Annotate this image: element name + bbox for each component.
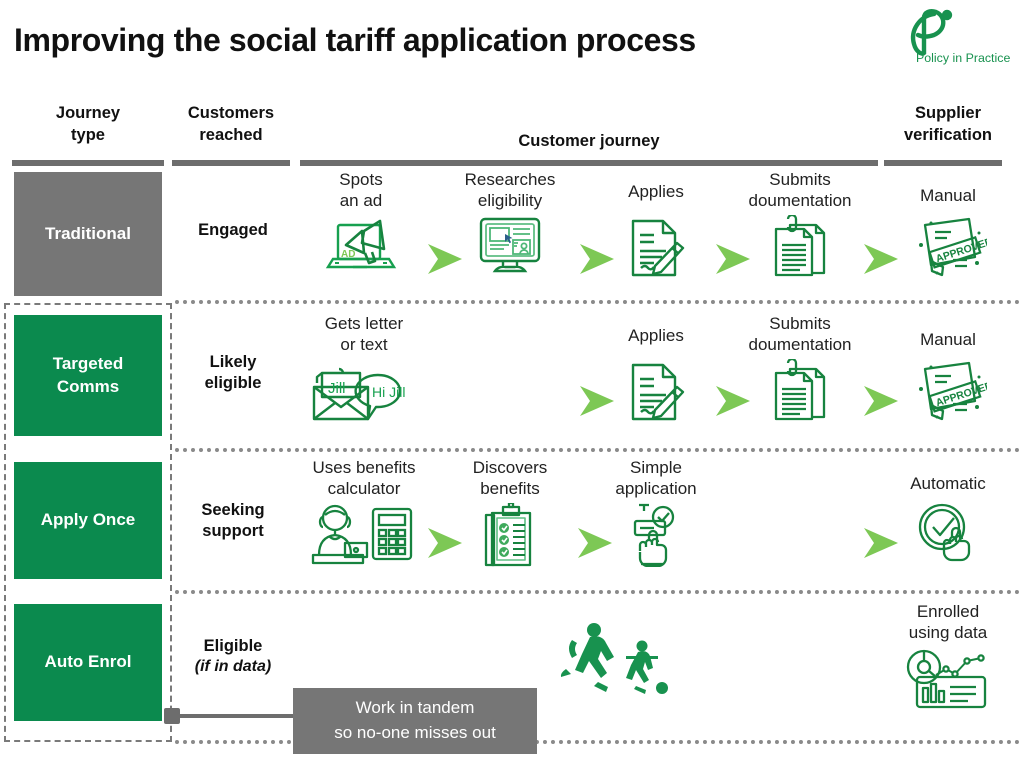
advisor-calculator-icon	[296, 503, 432, 567]
header-rule-supplier-verification	[884, 160, 1002, 166]
tandem-callout-line1: Work in tandem	[356, 696, 475, 721]
verification-enrolled-using-data[interactable]: Enrolled using data	[884, 602, 1012, 709]
verification-automatic-row3-label: Automatic	[884, 474, 1012, 495]
journey-type-auto-enrol[interactable]: Auto Enrol	[14, 604, 162, 721]
verification-manual-row1[interactable]: Manual APPROVED	[884, 186, 1012, 277]
step-submits-documentation-row1[interactable]: Submits doumentation	[726, 170, 874, 277]
header-rule-customer-journey	[300, 160, 878, 166]
step-spots-an-ad-line1: Spots	[305, 170, 417, 191]
step-researches-eligibility[interactable]: Researches eligibility	[448, 170, 572, 277]
laptop-megaphone-ad-icon: AD	[305, 215, 417, 277]
verification-automatic-row3[interactable]: Automatic	[884, 474, 1012, 563]
customers-reached-seeking-support-line1: Seeking	[172, 500, 294, 521]
header-supplier-verification-line1: Supplier	[884, 103, 1012, 125]
step-people-playing-football	[540, 620, 690, 698]
step-gets-letter-or-text-line1: Gets letter	[300, 314, 428, 335]
row-separator-3	[175, 590, 1020, 594]
customers-reached-engaged-label: Engaged	[198, 221, 268, 239]
step-applies-row1[interactable]: Applies	[606, 182, 706, 279]
customers-reached-seeking-support-line2: support	[172, 521, 294, 542]
policy-in-practice-logo: Policy in Practice	[900, 6, 1018, 68]
tap-approve-icon	[596, 503, 716, 567]
step-spots-an-ad[interactable]: Spots an ad AD	[305, 170, 417, 277]
header-supplier-verification-line2: verification	[884, 125, 1012, 147]
header-rule-journey-type	[12, 160, 164, 166]
step-simple-application-line1: Simple	[596, 458, 716, 479]
journey-type-apply-once-label: Apply Once	[41, 509, 135, 531]
approved-stamp-icon: APPROVED	[884, 215, 1012, 277]
customers-reached-likely-eligible: Likely eligible	[172, 352, 294, 395]
step-simple-application[interactable]: Simple application	[596, 458, 716, 567]
approved-stamp-icon: APPROVED	[884, 359, 1012, 421]
header-rule-customers-reached	[172, 160, 290, 166]
journey-type-targeted-comms-line2: Comms	[53, 376, 124, 398]
journey-type-targeted-comms-line1: Targeted	[53, 353, 124, 375]
desktop-monitor-research-icon	[448, 215, 572, 277]
svg-text:AD: AD	[341, 249, 355, 260]
people-playing-football-icon	[540, 620, 690, 698]
header-customers-reached: Customers reached	[170, 103, 292, 147]
journey-type-traditional[interactable]: Traditional	[14, 172, 162, 296]
tandem-connector-knob	[164, 708, 180, 724]
step-simple-application-line2: application	[596, 479, 716, 500]
tandem-callout: Work in tandem so no-one misses out	[293, 688, 537, 754]
step-spots-an-ad-line2: an ad	[305, 191, 417, 212]
row-separator-1	[175, 300, 1020, 304]
journey-type-apply-once[interactable]: Apply Once	[14, 462, 162, 579]
step-researches-eligibility-line1: Researches	[448, 170, 572, 191]
customers-reached-likely-eligible-line2: eligible	[172, 373, 294, 394]
step-uses-benefits-calculator-line1: Uses benefits	[296, 458, 432, 479]
sms-bubble-label: Hi Jill	[372, 384, 405, 400]
header-customers-reached-line1: Customers	[170, 103, 292, 125]
customers-reached-engaged: Engaged	[172, 220, 294, 241]
data-dashboard-icon	[884, 647, 1012, 709]
step-gets-letter-or-text[interactable]: Gets letter or text Jill Hi Jill	[300, 314, 428, 425]
step-gets-letter-or-text-line2: or text	[300, 335, 428, 356]
step-applies-row2-line1: Applies	[606, 326, 706, 347]
step-uses-benefits-calculator[interactable]: Uses benefits calculator	[296, 458, 432, 567]
step-discovers-benefits-line1: Discovers	[452, 458, 568, 479]
header-journey-type-line2: type	[12, 125, 164, 147]
customers-reached-eligible: Eligible (if in data)	[172, 636, 294, 678]
header-customers-reached-line2: reached	[170, 125, 292, 147]
customers-reached-likely-eligible-line1: Likely	[172, 352, 294, 373]
header-journey-type-line1: Journey	[12, 103, 164, 125]
step-submits-documentation-row2-line2: doumentation	[726, 335, 874, 356]
step-discovers-benefits[interactable]: Discovers benefits	[452, 458, 568, 567]
clipboard-documents-icon	[726, 359, 874, 421]
document-pen-icon	[606, 217, 706, 279]
step-applies-row1-line1: Applies	[606, 182, 706, 203]
letter-name-label: Jill	[328, 380, 346, 397]
logo-text: Policy in Practice	[916, 51, 1010, 65]
verification-manual-row2-label: Manual	[884, 330, 1012, 351]
step-uses-benefits-calculator-line2: calculator	[296, 479, 432, 500]
customers-reached-eligible-line2: (if in data)	[172, 657, 294, 678]
header-journey-type: Journey type	[12, 103, 164, 147]
step-researches-eligibility-line2: eligibility	[448, 191, 572, 212]
journey-type-auto-enrol-label: Auto Enrol	[45, 651, 132, 673]
step-submits-documentation-row1-line1: Submits	[726, 170, 874, 191]
customers-reached-seeking-support: Seeking support	[172, 500, 294, 543]
step-submits-documentation-row1-line2: doumentation	[726, 191, 874, 212]
step-applies-row2[interactable]: Applies	[606, 326, 706, 423]
step-submits-documentation-row2-line1: Submits	[726, 314, 874, 335]
tandem-callout-line2: so no-one misses out	[334, 721, 496, 746]
header-supplier-verification: Supplier verification	[884, 103, 1012, 147]
verification-enrolled-using-data-line2: using data	[884, 623, 1012, 644]
journey-type-targeted-comms[interactable]: Targeted Comms	[14, 315, 162, 436]
step-submits-documentation-row2[interactable]: Submits doumentation	[726, 314, 874, 421]
journey-type-traditional-label: Traditional	[45, 223, 131, 245]
verification-enrolled-using-data-line1: Enrolled	[884, 602, 1012, 623]
envelope-sms-icon: Jill Hi Jill	[300, 361, 428, 425]
page-title: Improving the social tariff application …	[14, 22, 696, 59]
document-pen-icon	[606, 361, 706, 423]
customers-reached-eligible-line1: Eligible	[172, 636, 294, 657]
clipboard-checklist-icon	[452, 503, 568, 567]
clipboard-documents-icon	[726, 215, 874, 277]
verification-manual-row1-label: Manual	[884, 186, 1012, 207]
tandem-connector-line	[168, 714, 308, 718]
auto-check-hand-icon	[884, 501, 1012, 563]
row-separator-2	[175, 448, 1020, 452]
header-customer-journey: Customer journey	[300, 131, 878, 153]
infographic-canvas: Improving the social tariff application …	[0, 0, 1024, 768]
step-discovers-benefits-line2: benefits	[452, 479, 568, 500]
verification-manual-row2[interactable]: Manual APPROVED	[884, 330, 1012, 421]
